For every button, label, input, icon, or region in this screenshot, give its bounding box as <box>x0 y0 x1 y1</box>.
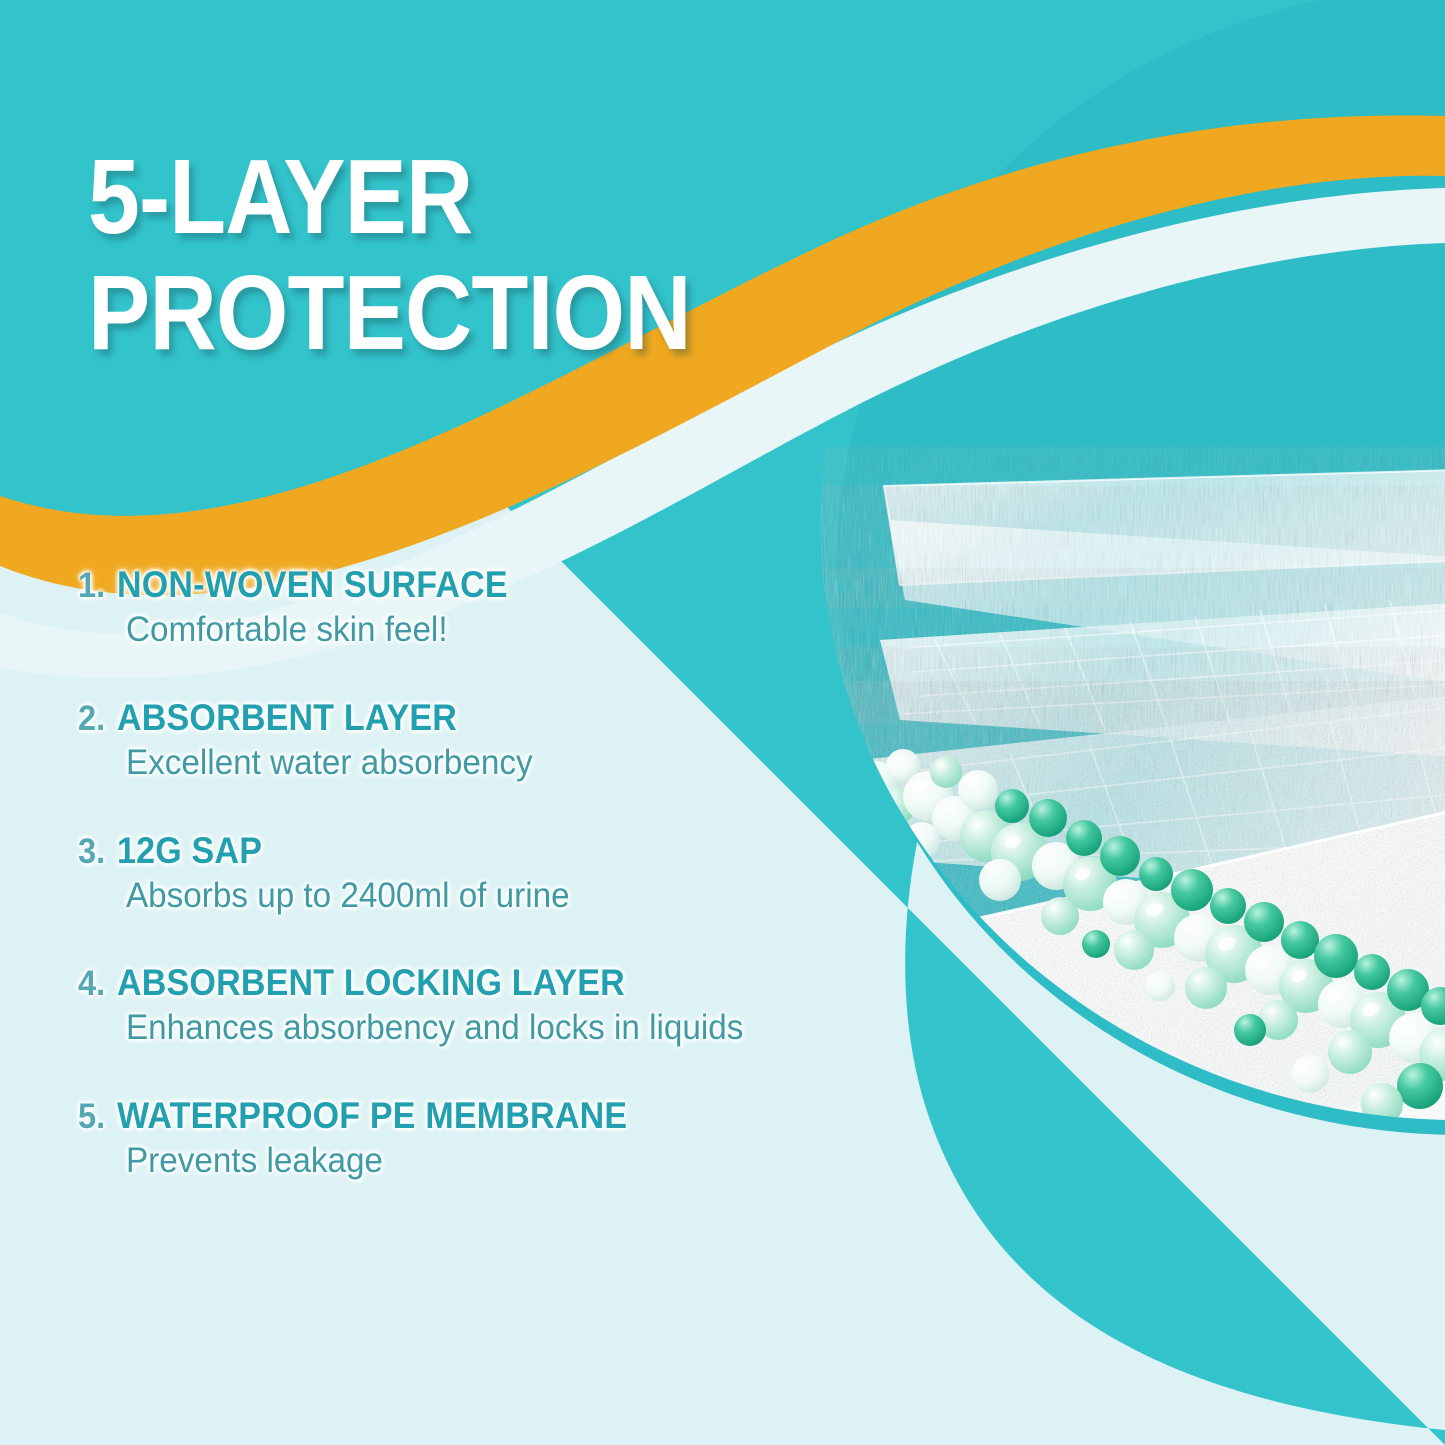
feature-name: ABSORBENT LAYER <box>117 699 457 736</box>
feature-description: Enhances absorbency and locks in liquids <box>126 1010 859 1047</box>
feature-name: NON-WOVEN SURFACE <box>117 566 508 603</box>
feature-heading: 3.12G SAP <box>78 832 898 869</box>
list-item: 1.NON-WOVEN SURFACE Comfortable skin fee… <box>78 566 898 649</box>
feature-number: 4. <box>78 966 105 1001</box>
feature-number: 1. <box>78 568 105 603</box>
feature-name: WATERPROOF PE MEMBRANE <box>117 1097 627 1134</box>
feature-heading: 2.ABSORBENT LAYER <box>78 699 898 736</box>
feature-name: ABSORBENT LOCKING LAYER <box>117 964 625 1001</box>
feature-description: Prevents leakage <box>126 1143 859 1180</box>
list-item: 3.12G SAP Absorbs up to 2400ml of urine <box>78 832 898 915</box>
feature-number: 5. <box>78 1099 105 1134</box>
list-item: 4.ABSORBENT LOCKING LAYER Enhances absor… <box>78 964 898 1047</box>
feature-number: 3. <box>78 834 105 869</box>
feature-number: 2. <box>78 701 105 736</box>
feature-description: Excellent water absorbency <box>126 745 859 782</box>
list-item: 5.WATERPROOF PE MEMBRANE Prevents leakag… <box>78 1097 898 1180</box>
feature-heading: 4.ABSORBENT LOCKING LAYER <box>78 964 898 1001</box>
feature-description: Absorbs up to 2400ml of urine <box>126 878 859 915</box>
feature-description: Comfortable skin feel! <box>126 612 859 649</box>
feature-heading: 5.WATERPROOF PE MEMBRANE <box>78 1097 898 1134</box>
infographic-canvas: 5-LAYER PROTECTION 1.NON-WOVEN SURFACE C… <box>0 0 1445 1445</box>
feature-name: 12G SAP <box>117 832 262 869</box>
feature-list: 1.NON-WOVEN SURFACE Comfortable skin fee… <box>78 566 898 1180</box>
feature-heading: 1.NON-WOVEN SURFACE <box>78 566 898 603</box>
list-item: 2.ABSORBENT LAYER Excellent water absorb… <box>78 699 898 782</box>
